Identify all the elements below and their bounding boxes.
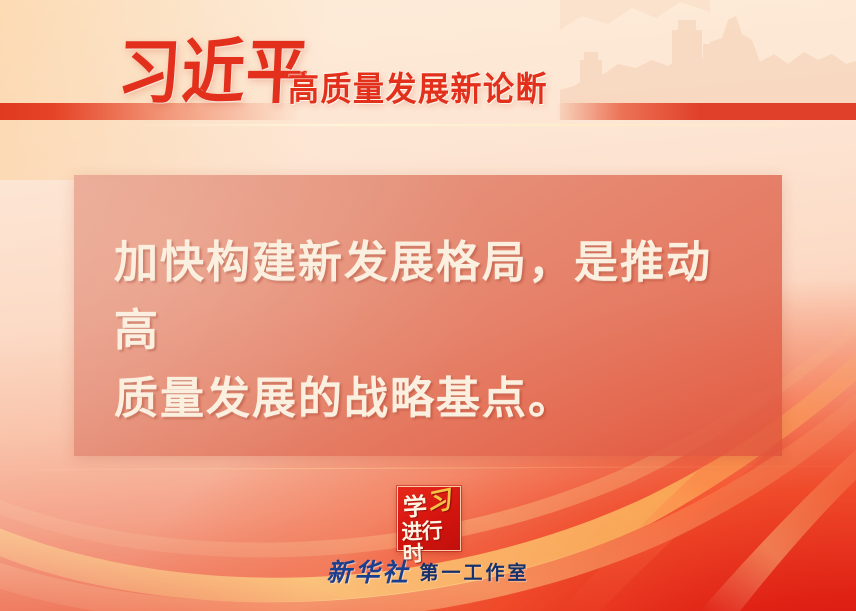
xuexi-jinxingshi-logo[interactable]: 学 习 进行时 <box>397 486 461 551</box>
page-subtitle: 高质量发展新论断 <box>288 69 548 110</box>
header-highlight-line <box>110 124 856 126</box>
poster-header: 习近平 高质量发展新论断 <box>0 46 856 124</box>
quote-text: 加快构建新发展格局，是推动高 质量发展的战略基点。 <box>114 229 754 433</box>
poster-footer: 学 习 进行时 新华社第一工作室 <box>0 480 856 611</box>
logo-inner: 学 习 进行时 <box>398 487 460 550</box>
byline: 新华社第一工作室 <box>0 558 856 588</box>
logo-char-xue: 学 <box>402 494 428 520</box>
logo-char-xi: 习 <box>424 487 454 517</box>
byline-agency: 新华社 <box>326 558 410 587</box>
poster-canvas: 习近平 高质量发展新论断 加快构建新发展格局，是推动高 质量发展的战略基点。 学… <box>0 0 856 611</box>
page-title: 习近平 <box>116 34 312 112</box>
byline-studio: 第一工作室 <box>420 562 530 584</box>
quote-card: 加快构建新发展格局，是推动高 质量发展的战略基点。 <box>74 175 782 456</box>
